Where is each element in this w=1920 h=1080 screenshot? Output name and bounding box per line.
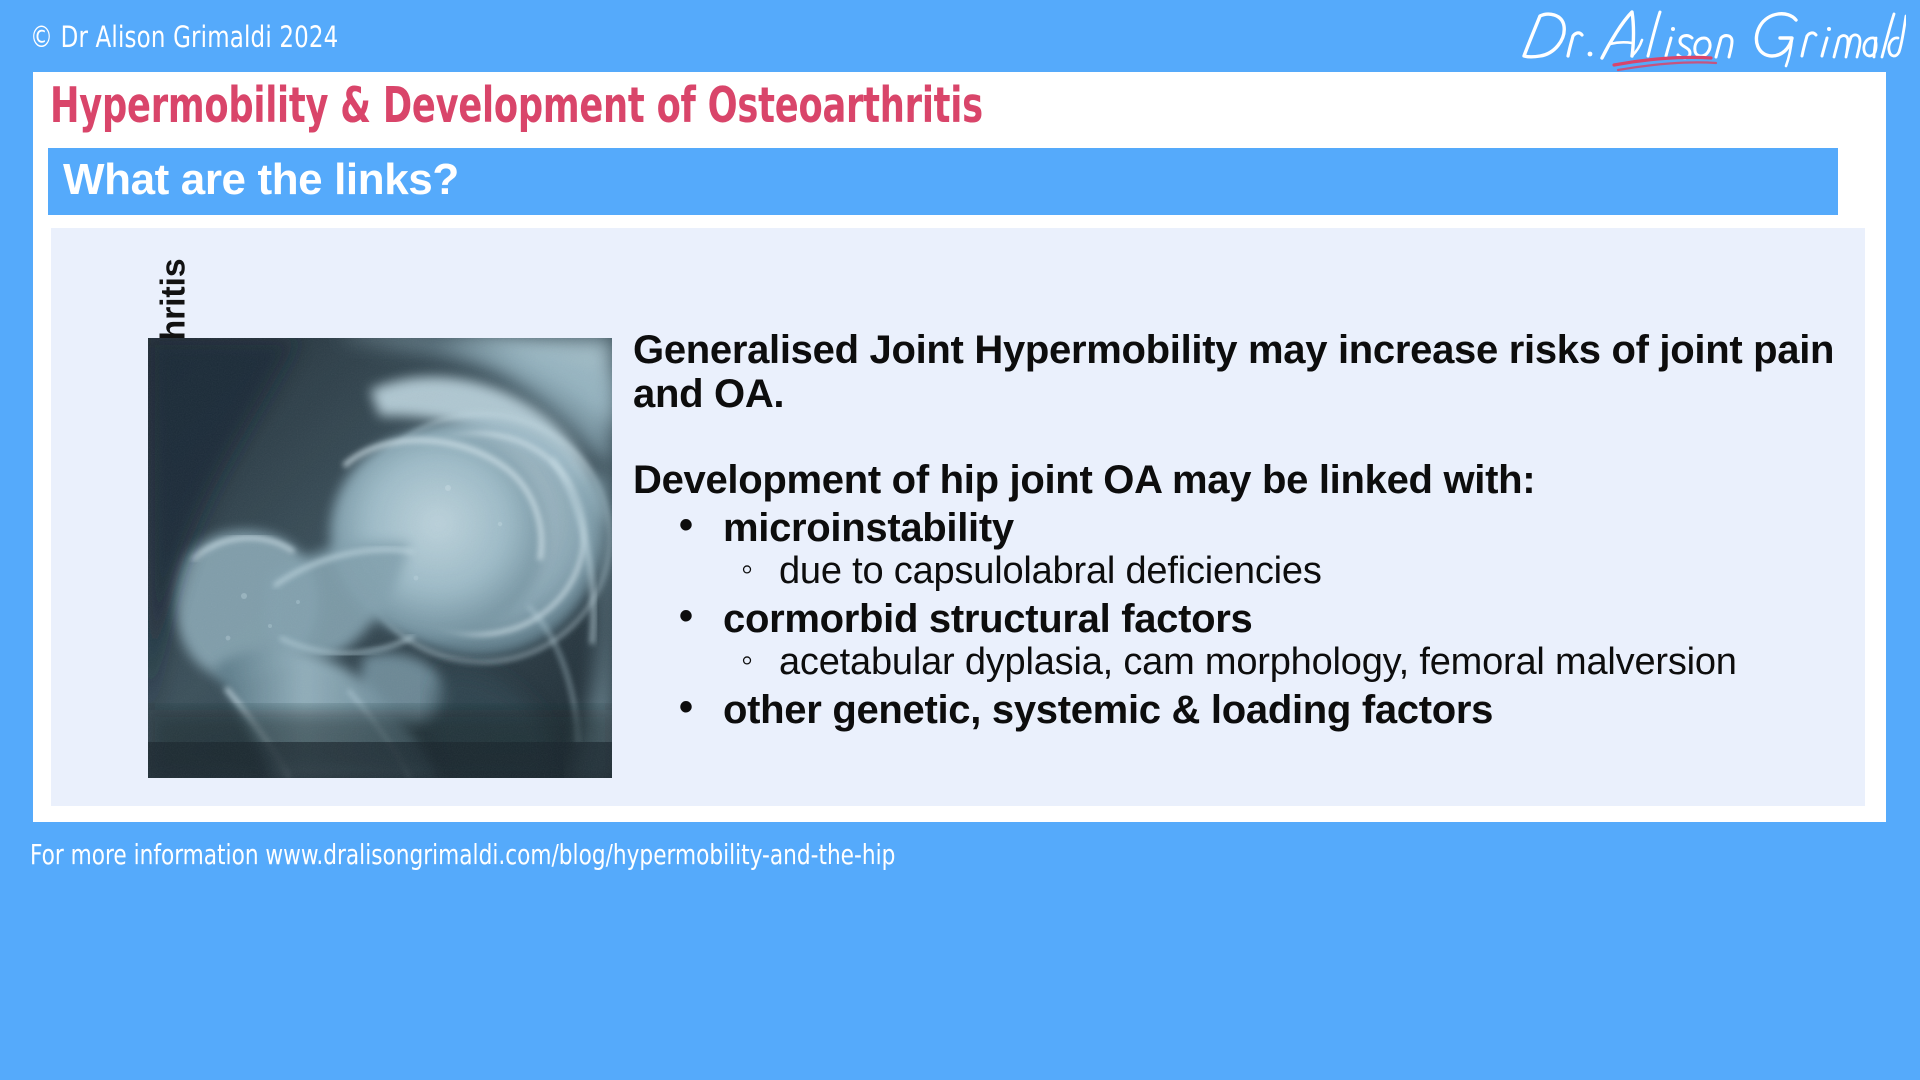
sub-bullet-item-1-1: due to capsulolabral deficiencies [723,551,1848,593]
slide-root: © Dr Alison Grimaldi 2024 [0,0,1920,1080]
content-panel: Hip osteoarthritis [51,228,1865,806]
body-text-column: Generalised Joint Hypermobility may incr… [633,328,1848,732]
bullet-label-1: microinstability [723,506,1014,550]
page-title: Hypermobility & Development of Osteoarth… [50,77,983,134]
paragraph-spacer [633,416,1848,458]
copyright-text: © Dr Alison Grimaldi 2024 [30,20,338,54]
top-bar: © Dr Alison Grimaldi 2024 [0,0,1920,72]
footer-link-text[interactable]: For more information www.dralisongrimald… [30,838,895,871]
bullet-list: microinstability due to capsulolabral de… [633,506,1848,732]
bullet-label-2: cormorbid structural factors [723,597,1253,641]
subtitle-text: What are the links? [63,155,459,205]
footer-bar: For more information www.dralisongrimald… [0,822,1920,1080]
bullet-item-1: microinstability due to capsulolabral de… [633,506,1848,593]
content-card: Hypermobility & Development of Osteoarth… [33,72,1886,822]
brand-logo [1506,2,1906,72]
sub-bullet-label-1-1: due to capsulolabral deficiencies [779,550,1322,592]
sub-bullet-list-1: due to capsulolabral deficiencies [723,551,1848,593]
bullet-item-3: other genetic, systemic & loading factor… [633,688,1848,732]
bullet-item-2: cormorbid structural factors acetabular … [633,597,1848,684]
sub-bullet-item-2-1: acetabular dyplasia, cam morphology, fem… [723,642,1848,684]
paragraph-2: Development of hip joint OA may be linke… [633,458,1848,502]
subtitle-bar: What are the links? [48,148,1838,215]
hip-xray-image [148,338,612,778]
bullet-label-3: other genetic, systemic & loading factor… [723,688,1493,732]
sub-bullet-list-2: acetabular dyplasia, cam morphology, fem… [723,642,1848,684]
paragraph-1: Generalised Joint Hypermobility may incr… [633,328,1848,416]
sub-bullet-label-2-1: acetabular dyplasia, cam morphology, fem… [779,641,1737,683]
